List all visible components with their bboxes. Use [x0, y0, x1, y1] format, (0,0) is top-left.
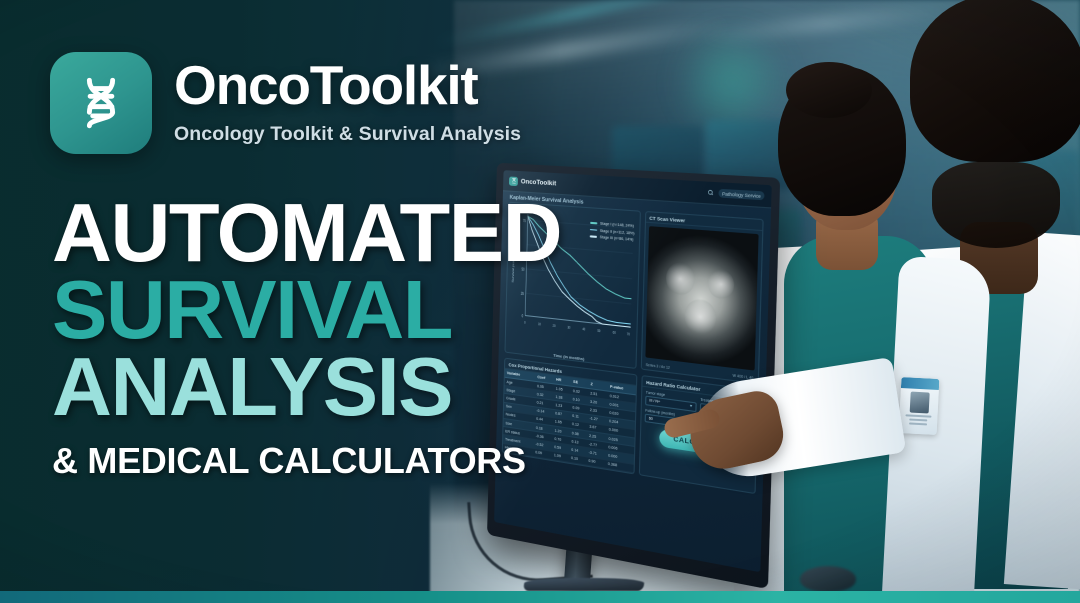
legend-swatch [590, 236, 597, 238]
brand-tagline: Oncology Toolkit & Survival Analysis [174, 123, 521, 146]
promo-banner: OncoToolkit Pathology Service Kaplan-Mei… [0, 0, 1080, 603]
badge-text-line [909, 419, 927, 422]
legend-swatch [590, 229, 597, 231]
logo-lockup: OncoToolkit Oncology Toolkit & Survival … [50, 52, 521, 154]
badge-photo [909, 392, 929, 414]
brand-name: OncoToolkit [174, 58, 521, 113]
dna-helix-icon [50, 52, 152, 154]
female-clinician [742, 22, 992, 603]
headline-line-2: SURVIVAL [52, 273, 561, 346]
headline-block: AUTOMATED SURVIVAL ANALYSIS & MEDICAL CA… [52, 196, 561, 477]
user-label[interactable]: Pathology Service [719, 189, 765, 200]
svg-text:70: 70 [627, 331, 630, 336]
computer-mouse [800, 566, 856, 592]
svg-text:60: 60 [613, 330, 616, 335]
svg-text:50: 50 [597, 328, 600, 333]
app-bar-actions: Pathology Service [707, 188, 764, 199]
ct-image-body [642, 223, 763, 375]
ct-scan-image[interactable] [645, 226, 759, 370]
field-value: III / N+ [649, 399, 660, 405]
ct-structure [666, 262, 695, 296]
legend-label: Stage II (n=112, 18%) [600, 228, 635, 235]
table-cell: 0.10 [569, 454, 587, 465]
chevron-down-icon [690, 405, 692, 407]
headline-line-1: AUTOMATED [52, 196, 561, 269]
hair-bun [786, 62, 872, 118]
chart-legend: Stage I (n=148, 24%) Stage II (n=112, 18… [590, 221, 635, 242]
footer-accent-bar [0, 591, 1080, 603]
headline-subline: & MEDICAL CALCULATORS [52, 445, 561, 477]
badge-header [901, 377, 940, 390]
headline-line-3: ANALYSIS [52, 350, 561, 423]
table-cell: 0.90 [586, 456, 606, 468]
svg-text:40: 40 [582, 326, 585, 331]
badge-text-line [909, 423, 927, 426]
dna-helix-icon [509, 176, 518, 186]
legend-swatch [590, 222, 597, 224]
svg-text:30: 30 [567, 325, 570, 330]
brand-text: OncoToolkit Oncology Toolkit & Survival … [174, 52, 521, 146]
field-value: 60 [649, 416, 653, 421]
ct-viewer-card: CT Scan Viewer Series 3 / Ax 12 W 400 / … [640, 211, 764, 384]
ct-structure [684, 298, 716, 336]
ct-structure [707, 268, 735, 300]
ct-series-label: Series 3 / Ax 12 [646, 362, 670, 369]
id-badge [899, 377, 940, 435]
monitor-stand-base [523, 578, 645, 591]
badge-text-line [905, 414, 931, 417]
search-icon[interactable] [707, 189, 714, 196]
